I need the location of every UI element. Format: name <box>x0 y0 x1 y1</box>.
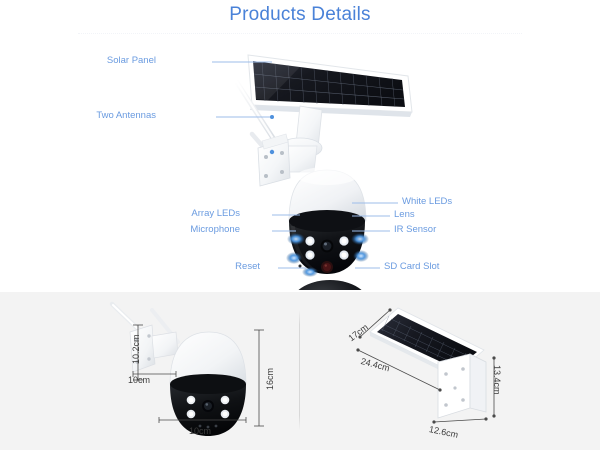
dim-text-camera-height-upper: 10.2cm <box>132 334 141 364</box>
callout-label-ir-sensor: IR Sensor <box>394 225 436 235</box>
product-details-page: Products Details <box>0 0 600 450</box>
title-divider <box>78 33 522 35</box>
camera-dimension-drawing <box>112 304 264 436</box>
page-header: Products Details <box>0 0 600 36</box>
page-title: Products Details <box>0 4 600 26</box>
dim-camera-total-height <box>254 330 264 426</box>
lens-graphic <box>321 240 334 253</box>
dimension-drawings-graphic <box>0 292 600 450</box>
dim-text-camera-base-width: 10cm <box>189 427 211 436</box>
callout-label-sd-card-slot: SD Card Slot <box>384 262 439 272</box>
dim-bracket-width <box>432 417 487 423</box>
dim-text-bracket-height: 13.4cm <box>492 365 501 395</box>
product-hero-illustration: Solar Panel Two Antennas Array LEDs Micr… <box>0 36 600 290</box>
callout-label-reset: Reset <box>190 262 260 272</box>
camera-head-graphic <box>286 167 369 277</box>
solar-panel-graphic <box>248 55 412 117</box>
callout-label-white-leds: White LEDs <box>402 197 452 207</box>
microphone-graphic <box>299 265 302 268</box>
camera-solar-assembly-graphic <box>0 36 600 290</box>
callout-label-array-leds: Array LEDs <box>150 209 240 219</box>
callout-label-two-antennas: Two Antennas <box>60 111 156 121</box>
dimensions-section: 10.2cm 10cm 16cm 10cm 17cm 24.4cm 13.4cm… <box>0 292 600 450</box>
dim-text-camera-mount-width: 10cm <box>128 376 150 385</box>
sd-slot-magnifier-inset <box>290 280 370 290</box>
callout-label-microphone: Microphone <box>150 225 240 235</box>
dimensions-divider <box>299 310 300 430</box>
callout-label-solar-panel: Solar Panel <box>76 56 156 66</box>
ir-sensor-graphic <box>321 261 333 273</box>
dim-text-camera-total-height: 16cm <box>266 368 275 390</box>
callout-label-lens: Lens <box>394 210 415 220</box>
